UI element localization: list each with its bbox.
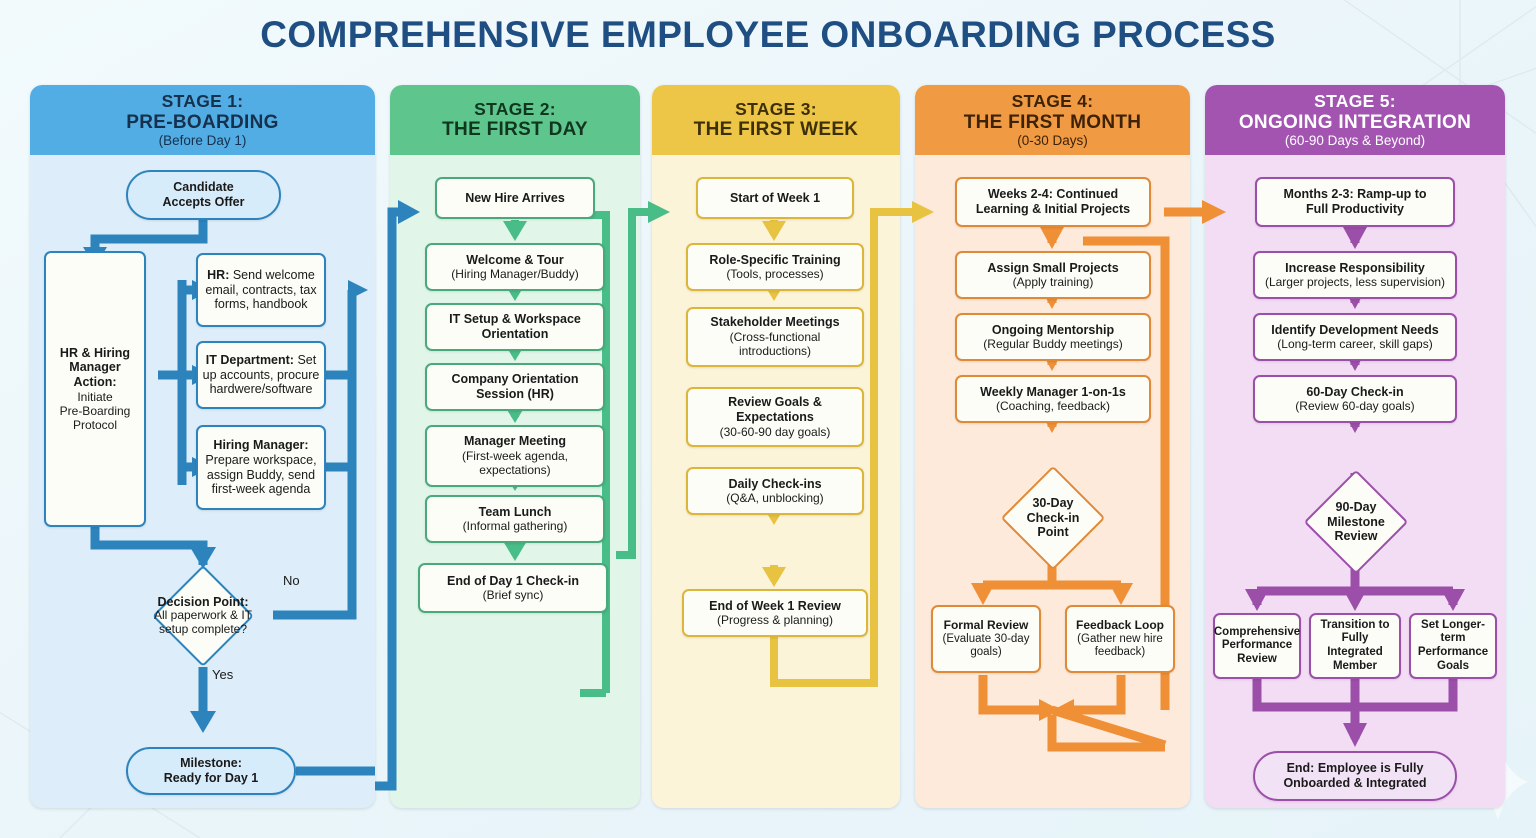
s5-node-60-day-checkin[interactable]: 60-Day Check-in (Review 60-day goals) [1253,375,1457,423]
s3-node-4-sub: (30-60-90 day goals) [720,425,831,439]
s1-node-2-sub: InitiatePre-BoardingProtocol [60,390,131,432]
s1-node-it-department[interactable]: IT Department: Set up accounts, procure … [196,341,326,409]
s2-node-it-setup-workspace-orientation[interactable]: IT Setup & Workspace Orientation [425,303,605,351]
s4-node-4-title: Weekly Manager 1-on-1s [980,385,1126,400]
s3-node-start-of-week-1[interactable]: Start of Week 1 [696,177,854,219]
s4-node-2-sub: (Apply training) [1013,275,1094,289]
s5-node-9-title: End: Employee is Fully [1287,761,1424,776]
s2-node-4-title: Company Orientation [451,372,578,387]
s3-node-6-sub: (Progress & planning) [717,613,833,627]
s1-node-candidate-accepts-offer[interactable]: Candidate Accepts Offer [126,170,281,220]
s2-node-2-sub: (Hiring Manager/Buddy) [451,267,578,281]
s1-node-7-sub: Ready for Day 1 [164,771,258,786]
s3-node-2-sub: (Tools, processes) [726,267,823,281]
stage-3-header-line2: THE FIRST WEEK [694,119,859,140]
stage-2-header-line2: THE FIRST DAY [442,119,588,140]
s2-node-1-title: New Hire Arrives [465,191,565,206]
s1-node-4-text: IT Department: Set up accounts, procure … [202,353,320,397]
s4-node-6-title: Formal Review [944,618,1029,632]
s1-node-1-sub: Accepts Offer [163,195,245,210]
s3-node-2-title: Role-Specific Training [709,253,840,268]
s2-node-end-of-day-1-checkin[interactable]: End of Day 1 Check-in (Brief sync) [418,563,608,613]
s5-node-9-sub: Onboarded & Integrated [1283,776,1426,791]
s2-node-manager-meeting[interactable]: Manager Meeting (First-week agenda,expec… [425,425,605,487]
s3-node-3-title: Stakeholder Meetings [710,315,839,330]
stage-4-header-line2: THE FIRST MONTH [964,112,1142,133]
s1-node-milestone-ready-for-day-1[interactable]: Milestone: Ready for Day 1 [126,747,296,795]
s3-node-1-title: Start of Week 1 [730,191,820,206]
s4-node-weekly-manager-1-on-1s[interactable]: Weekly Manager 1-on-1s (Coaching, feedba… [955,375,1151,423]
s5-node-set-longer-term-performance-goals[interactable]: Set Longer-termPerformanceGoals [1409,613,1497,679]
s5-node-identify-development-needs[interactable]: Identify Development Needs (Long-term ca… [1253,313,1457,361]
s1-node-1-title: Candidate [173,180,233,195]
s3-node-4-title: Review Goals &Expectations [728,395,822,425]
s2-node-7-title: End of Day 1 Check-in [447,574,579,589]
stage-5-header-line1: STAGE 5: [1314,92,1396,112]
stage-5-header-line2: ONGOING INTEGRATION [1239,112,1471,133]
stage-column-5: STAGE 5: ONGOING INTEGRATION (60-90 Days… [1205,85,1505,808]
page-title: COMPREHENSIVE EMPLOYEE ONBOARDING PROCES… [0,14,1536,56]
s2-node-5-title: Manager Meeting [464,434,566,449]
s4-node-4-sub: (Coaching, feedback) [996,399,1110,413]
s1-node-7-title: Milestone: [180,756,242,771]
s4-node-1-title: Weeks 2-4: Continued [988,187,1118,202]
s5-node-3-sub: (Long-term career, skill gaps) [1277,337,1432,351]
s3-node-3-sub: (Cross-functionalintroductions) [730,330,821,358]
stage-5-body: Months 2-3: Ramp-up to Full Productivity… [1205,155,1505,808]
s5-node-90-day-milestone-shape[interactable] [1304,470,1409,575]
s4-node-weeks-2-4-continued[interactable]: Weeks 2-4: Continued Learning & Initial … [955,177,1151,227]
stage-1-body: Candidate Accepts Offer HR & HiringManag… [30,155,375,808]
s5-node-increase-responsibility[interactable]: Increase Responsibility (Larger projects… [1253,251,1457,299]
s2-node-new-hire-arrives[interactable]: New Hire Arrives [435,177,595,219]
s5-node-8-title: Set Longer-termPerformanceGoals [1415,619,1491,673]
s5-node-4-sub: (Review 60-day goals) [1295,399,1414,413]
stage-column-4: STAGE 4: THE FIRST MONTH (0-30 Days) [915,85,1190,808]
stage-5-header-line3: (60-90 Days & Beyond) [1285,133,1425,148]
s5-node-2-title: Increase Responsibility [1285,261,1425,276]
s4-node-1-sub: Learning & Initial Projects [976,202,1130,217]
s2-node-5-sub: (First-week agenda,expectations) [462,449,568,477]
s3-node-6-title: End of Week 1 Review [709,599,841,614]
s2-node-3-title: IT Setup & Workspace [449,312,581,327]
stage-2-header-line1: STAGE 2: [474,100,556,120]
stage-4-body: Weeks 2-4: Continued Learning & Initial … [915,155,1190,808]
s1-node-hr-hiring-manager-action[interactable]: HR & HiringManagerAction: InitiatePre-Bo… [44,251,146,527]
s3-node-stakeholder-meetings[interactable]: Stakeholder Meetings (Cross-functionalin… [686,307,864,367]
s1-node-hiring-manager[interactable]: Hiring Manager: Prepare workspace, assig… [196,425,326,510]
s5-node-end-employee-fully-onboarded[interactable]: End: Employee is Fully Onboarded & Integ… [1253,751,1457,801]
s5-node-transition-to-fully-integrated-member[interactable]: Transition toFully IntegratedMember [1309,613,1401,679]
s1-node-hr-send-welcome[interactable]: HR: Send welcome email, contracts, tax f… [196,253,326,327]
s5-node-3-title: Identify Development Needs [1271,323,1438,338]
s5-node-months-2-3-rampup[interactable]: Months 2-3: Ramp-up to Full Productivity [1255,177,1455,227]
connector-stage3-to-stage4 [860,85,940,815]
s2-node-6-sub: (Informal gathering) [463,519,568,533]
s5-node-1-sub: Full Productivity [1306,202,1404,217]
s2-node-7-sub: (Brief sync) [483,588,544,602]
stage-1-header: STAGE 1: PRE-BOARDING (Before Day 1) [30,85,375,155]
s2-node-company-orientation-session[interactable]: Company Orientation Session (HR) [425,363,605,411]
s3-node-5-title: Daily Check-ins [728,477,821,492]
s4-node-3-sub: (Regular Buddy meetings) [983,337,1122,351]
s5-node-4-title: 60-Day Check-in [1306,385,1403,400]
s2-node-team-lunch[interactable]: Team Lunch (Informal gathering) [425,495,605,543]
stage-1-header-line2: PRE-BOARDING [126,112,278,133]
stage-1-header-line3: (Before Day 1) [159,133,247,148]
s4-node-30-day-checkin-shape[interactable] [1001,466,1106,571]
s2-node-3-sub: Orientation [482,327,549,342]
s2-node-4-sub: Session (HR) [476,387,554,402]
s3-node-review-goals-expectations[interactable]: Review Goals &Expectations (30-60-90 day… [686,387,864,447]
stage-1-header-line1: STAGE 1: [162,92,244,112]
s4-node-formal-review[interactable]: Formal Review (Evaluate 30-daygoals) [931,605,1041,673]
s1-edge-label-no: No [283,573,300,588]
stage-4-header: STAGE 4: THE FIRST MONTH (0-30 Days) [915,85,1190,155]
s3-node-role-specific-training[interactable]: Role-Specific Training (Tools, processes… [686,243,864,291]
stage-4-header-line3: (0-30 Days) [1017,133,1088,148]
s2-node-2-title: Welcome & Tour [466,253,563,268]
s4-node-2-title: Assign Small Projects [987,261,1118,276]
s4-node-3-title: Ongoing Mentorship [992,323,1114,338]
stage-5-header: STAGE 5: ONGOING INTEGRATION (60-90 Days… [1205,85,1505,155]
s5-node-2-sub: (Larger projects, less supervision) [1265,275,1445,289]
s3-node-daily-checkins[interactable]: Daily Check-ins (Q&A, unblocking) [686,467,864,515]
s3-node-5-sub: (Q&A, unblocking) [726,491,823,505]
s2-node-welcome-and-tour[interactable]: Welcome & Tour (Hiring Manager/Buddy) [425,243,605,291]
s1-node-3-text: HR: Send welcome email, contracts, tax f… [202,268,320,312]
connector-stage2-to-stage3 [596,85,676,815]
s4-node-ongoing-mentorship[interactable]: Ongoing Mentorship (Regular Buddy meetin… [955,313,1151,361]
stage-3-header-line1: STAGE 3: [735,100,817,120]
s1-node-2-title: HR & HiringManagerAction: [60,346,130,390]
stage-4-header-line1: STAGE 4: [1012,92,1094,112]
s2-node-6-title: Team Lunch [479,505,552,520]
s5-node-1-title: Months 2-3: Ramp-up to [1283,187,1426,202]
s5-node-7-title: Transition toFully IntegratedMember [1315,619,1395,673]
s4-node-assign-small-projects[interactable]: Assign Small Projects (Apply training) [955,251,1151,299]
stage-column-1: STAGE 1: PRE-BOARDING (Before Day 1) [30,85,375,808]
s1-node-5-text: Hiring Manager: Prepare workspace, assig… [202,438,320,497]
connector-stage1-to-stage2 [330,85,420,815]
s1-edge-label-yes: Yes [212,667,233,682]
s3-node-end-of-week-1-review[interactable]: End of Week 1 Review (Progress & plannin… [682,589,868,637]
s1-node-decision-point-shape[interactable] [152,565,254,667]
connector-stage4-to-stage5 [1150,85,1230,815]
s4-node-6-sub: (Evaluate 30-daygoals) [943,633,1030,660]
